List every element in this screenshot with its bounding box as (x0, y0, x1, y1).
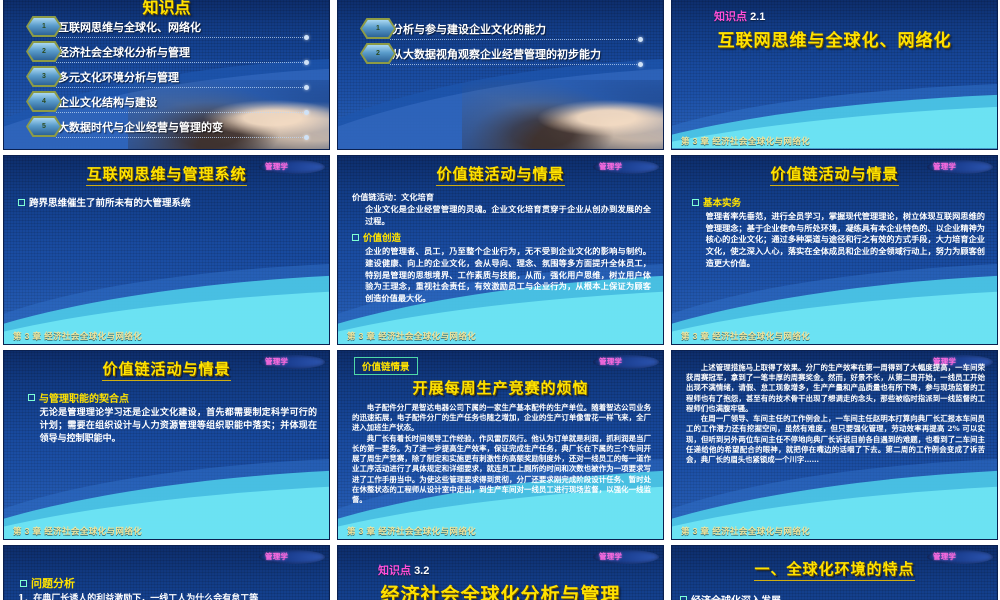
square-bullet-icon (28, 394, 35, 401)
slide-12-title: 一、全球化环境的特点 (672, 558, 997, 581)
slide-1-agenda-list: 1 互联网思维与全球化、网络化 2 经济社会全球化分析与管理 3 多元文化环境分… (4, 0, 329, 139)
agenda-item-label: 经济社会全球化分析与管理 (58, 44, 190, 60)
agenda-item-number: 2 (362, 45, 394, 62)
slide-thumbnail-9[interactable]: 管理学 上述管理措施马上取得了效果。分厂的生产效率在第一周得到了大幅度提高，一车… (671, 350, 998, 540)
sub-heading-text: 基本实务 (703, 195, 741, 209)
agenda-item-label: 互联网思维与全球化、网络化 (58, 19, 201, 35)
slide-7-body: 与管理职能的契合点 无论是管理理论学习还是企业文化建设，首先都需要制定科学可行的… (4, 381, 329, 445)
agenda-item[interactable]: 5 大数据时代与企业经营与管理的变 (26, 114, 319, 139)
knowledge-point-label: 知识点 2.1 (714, 8, 997, 24)
slide-thumbnail-2[interactable]: 1 分析与参与建设企业文化的能力 2 从大数据视角观察企业经营管理的初步能力 (337, 0, 664, 150)
kp-number: 3.2 (414, 565, 429, 577)
slide-thumbnail-8[interactable]: 管理学 价值链情景 开展每周生产竞赛的烦恼 电子配件分厂是智达电器公司下属的一家… (337, 350, 664, 540)
slide-10-body: 问题分析 1．在典厂长诱人的利益激励下，一线工人为什么会有怠工等 (4, 546, 329, 600)
slide-thumbnail-5[interactable]: 管理学 价值链活动与情景 价值链活动：文化培育 企业文化是企业经营管理的灵魂。企… (337, 155, 664, 345)
bullet-text: 经济全球化深入发展 (691, 592, 781, 600)
slide-4-title: 互联网思维与管理系统 (4, 163, 329, 186)
slide-12-body: 经济全球化深入发展 (672, 581, 997, 600)
leader-dots (56, 62, 305, 63)
hexagon-bullet-icon: 2 (26, 41, 62, 62)
slide-2-agenda-list: 1 分析与参与建设企业文化的能力 2 从大数据视角观察企业经营管理的初步能力 (338, 0, 663, 66)
slide-footer: 第 3 章 经济社会全球化与网络化 (338, 330, 663, 342)
square-bullet-icon (692, 199, 699, 206)
slide-9-body: 上述管理措施马上取得了效果。分厂的生产效率在第一周得到了大幅度提高，一车间荣获周… (672, 351, 997, 465)
bullet-item: 经济全球化深入发展 (680, 592, 985, 600)
case-paragraph: 电子配件分厂是智达电器公司下属的一家生产基本配件的生产单位。随着智达公司业务的迅… (352, 403, 651, 434)
agenda-item[interactable]: 4 企业文化结构与建设 (26, 89, 319, 114)
slide-footer: 第 3 章 经济社会全球化与网络化 (672, 525, 997, 537)
bullet-text: 跨界思维催生了前所未有的大管理系统 (29, 195, 191, 209)
case-paragraph: 上述管理措施马上取得了效果。分厂的生产效率在第一周得到了大幅度提高，一车间荣获周… (686, 363, 985, 414)
slide-8-body: 电子配件分厂是智达电器公司下属的一家生产基本配件的生产单位。随着智达公司业务的迅… (338, 398, 663, 505)
slide-thumbnail-6[interactable]: 管理学 价值链活动与情景 基本实务 管理者率先垂范，进行全员学习，掌握现代管理理… (671, 155, 998, 345)
agenda-item-label: 多元文化环境分析与管理 (58, 69, 179, 85)
kp-text: 知识点 (714, 11, 747, 23)
leader-dots (56, 87, 305, 88)
sub-body: 企业的管理者、员工，乃至整个企业行为，无不受到企业文化的影响与制约。建设健康、向… (352, 246, 651, 304)
case-paragraph: 典厂长有着长时间领导工作经验，作风雷厉风行。他认为订单就是利润，抓利润是当厂长的… (352, 434, 651, 506)
slide-3-title: 互联网思维与全球化、网络化 (672, 26, 997, 51)
slide-1-title: 知识点 (4, 0, 329, 18)
slide-thumbnail-7[interactable]: 管理学 价值链活动与情景 与管理职能的契合点 无论是管理理论学习还是企业文化建设… (3, 350, 330, 540)
agenda-item[interactable]: 2 经济社会全球化分析与管理 (26, 39, 319, 64)
slide-thumbnail-11[interactable]: 管理学 知识点 3.2 经济社会全球化分析与管理 (337, 545, 664, 600)
bullet-item: 跨界思维催生了前所未有的大管理系统 (18, 195, 317, 209)
agenda-item[interactable]: 3 多元文化环境分析与管理 (26, 64, 319, 89)
slide-thumbnail-1[interactable]: 知识点 1 互联网思维与全球化、网络化 2 经济社会全球化分析与管理 3 多元文… (3, 0, 330, 150)
slide-footer: 第 3 章 经济社会全球化与网络化 (338, 525, 663, 537)
slide-thumbnail-grid: 知识点 1 互联网思维与全球化、网络化 2 经济社会全球化分析与管理 3 多元文… (0, 0, 1000, 600)
case-paragraph: 在周一厂领导、车间主任的工作例会上，一车间主任赵明本打算向典厂长汇报本车间员工的… (686, 414, 985, 465)
agenda-item-number: 1 (362, 20, 394, 37)
hexagon-bullet-icon: 5 (26, 116, 62, 137)
sub-heading: 问题分析 (20, 575, 317, 591)
agenda-item[interactable]: 1 分析与参与建设企业文化的能力 (360, 16, 653, 41)
leader-dots (56, 112, 305, 113)
hexagon-bullet-icon: 1 (26, 16, 62, 37)
agenda-item-number: 2 (28, 43, 60, 60)
agenda-item-label: 大数据时代与企业经营与管理的变 (58, 119, 223, 135)
sub-heading: 与管理职能的契合点 (28, 390, 317, 405)
course-badge: 管理学 (593, 355, 659, 369)
sub-body: 1．在典厂长诱人的利益激励下，一线工人为什么会有怠工等 (18, 593, 317, 600)
slide-6-body: 基本实务 管理者率先垂范，进行全员学习，掌握现代管理理论，树立体现互联网思维的管… (672, 186, 997, 269)
slide-8-title: 开展每周生产竞赛的烦恼 (338, 377, 663, 398)
decorative-wave (338, 57, 663, 149)
course-badge-label: 管理学 (599, 356, 622, 367)
sub-heading-text: 与管理职能的契合点 (39, 390, 129, 405)
agenda-item-label: 从大数据视角观察企业经营管理的初步能力 (392, 46, 601, 62)
case-tag: 价值链情景 (354, 357, 418, 375)
sub-heading-text: 价值创造 (363, 230, 401, 244)
slide-thumbnail-10[interactable]: 管理学 问题分析 1．在典厂长诱人的利益激励下，一线工人为什么会有怠工等 (3, 545, 330, 600)
slide-6-title: 价值链活动与情景 (672, 163, 997, 186)
square-bullet-icon (20, 580, 27, 587)
sub-heading: 价值创造 (352, 230, 651, 244)
agenda-item-number: 5 (28, 118, 60, 135)
leader-dots (56, 37, 305, 38)
kp-number: 2.1 (750, 11, 765, 23)
leader-dots (390, 39, 639, 40)
agenda-item-number: 4 (28, 93, 60, 110)
slide-4-body: 跨界思维催生了前所未有的大管理系统 (4, 186, 329, 209)
course-badge-label: 管理学 (599, 551, 622, 562)
slide-thumbnail-12[interactable]: 管理学 一、全球化环境的特点 经济全球化深入发展 (671, 545, 998, 600)
hexagon-bullet-icon: 3 (26, 66, 62, 87)
sub-heading: 基本实务 (692, 195, 985, 209)
agenda-item-number: 1 (28, 18, 60, 35)
agenda-item-label: 企业文化结构与建设 (58, 94, 157, 110)
slide-footer: 第 3 章 经济社会全球化与网络化 (672, 330, 997, 342)
slide-7-title: 价值链活动与情景 (4, 358, 329, 381)
slide-thumbnail-4[interactable]: 管理学 互联网思维与管理系统 跨界思维催生了前所未有的大管理系统 第 3 章 经… (3, 155, 330, 345)
kp-text: 知识点 (378, 565, 411, 577)
slide-footer: 第 3 章 经济社会全球化与网络化 (4, 330, 329, 342)
cover-photo (462, 80, 664, 149)
slide-5-body: 价值链活动：文化培育 企业文化是企业经营管理的灵魂。企业文化培育贯穿于企业从创办… (338, 186, 663, 305)
square-bullet-icon (352, 234, 359, 241)
slide-thumbnail-3[interactable]: 知识点 2.1 互联网思维与全球化、网络化 第 3 章 经济社会全球化与网络化 (671, 0, 998, 150)
sub-heading-text: 问题分析 (31, 575, 75, 591)
agenda-item-label: 分析与参与建设企业文化的能力 (392, 21, 546, 37)
agenda-item-number: 3 (28, 68, 60, 85)
agenda-item[interactable]: 2 从大数据视角观察企业经营管理的初步能力 (360, 41, 653, 66)
knowledge-point-label: 知识点 3.2 (378, 562, 663, 578)
hexagon-bullet-icon: 1 (360, 18, 396, 39)
lead-body: 企业文化是企业经营管理的灵魂。企业文化培育贯穿于企业从创办到发展的全过程。 (352, 204, 651, 227)
sub-body: 管理者率先垂范，进行全员学习，掌握现代管理理论，树立体现互联网思维的管理理念；基… (686, 211, 985, 269)
slide-footer: 第 3 章 经济社会全球化与网络化 (672, 135, 997, 147)
slide-5-title: 价值链活动与情景 (338, 163, 663, 186)
sub-body: 无论是管理理论学习还是企业文化建设，首先都需要制定科学可行的计划；需要在组织设计… (18, 407, 317, 445)
square-bullet-icon (680, 596, 687, 600)
lead-line: 价值链活动：文化培育 (352, 192, 651, 203)
hexagon-bullet-icon: 4 (26, 91, 62, 112)
leader-dots (390, 64, 639, 65)
square-bullet-icon (18, 199, 25, 206)
slide-11-title: 经济社会全球化分析与管理 (338, 580, 663, 600)
slide-footer: 第 3 章 经济社会全球化与网络化 (4, 525, 329, 537)
hexagon-bullet-icon: 2 (360, 43, 396, 64)
leader-dots (56, 137, 305, 138)
